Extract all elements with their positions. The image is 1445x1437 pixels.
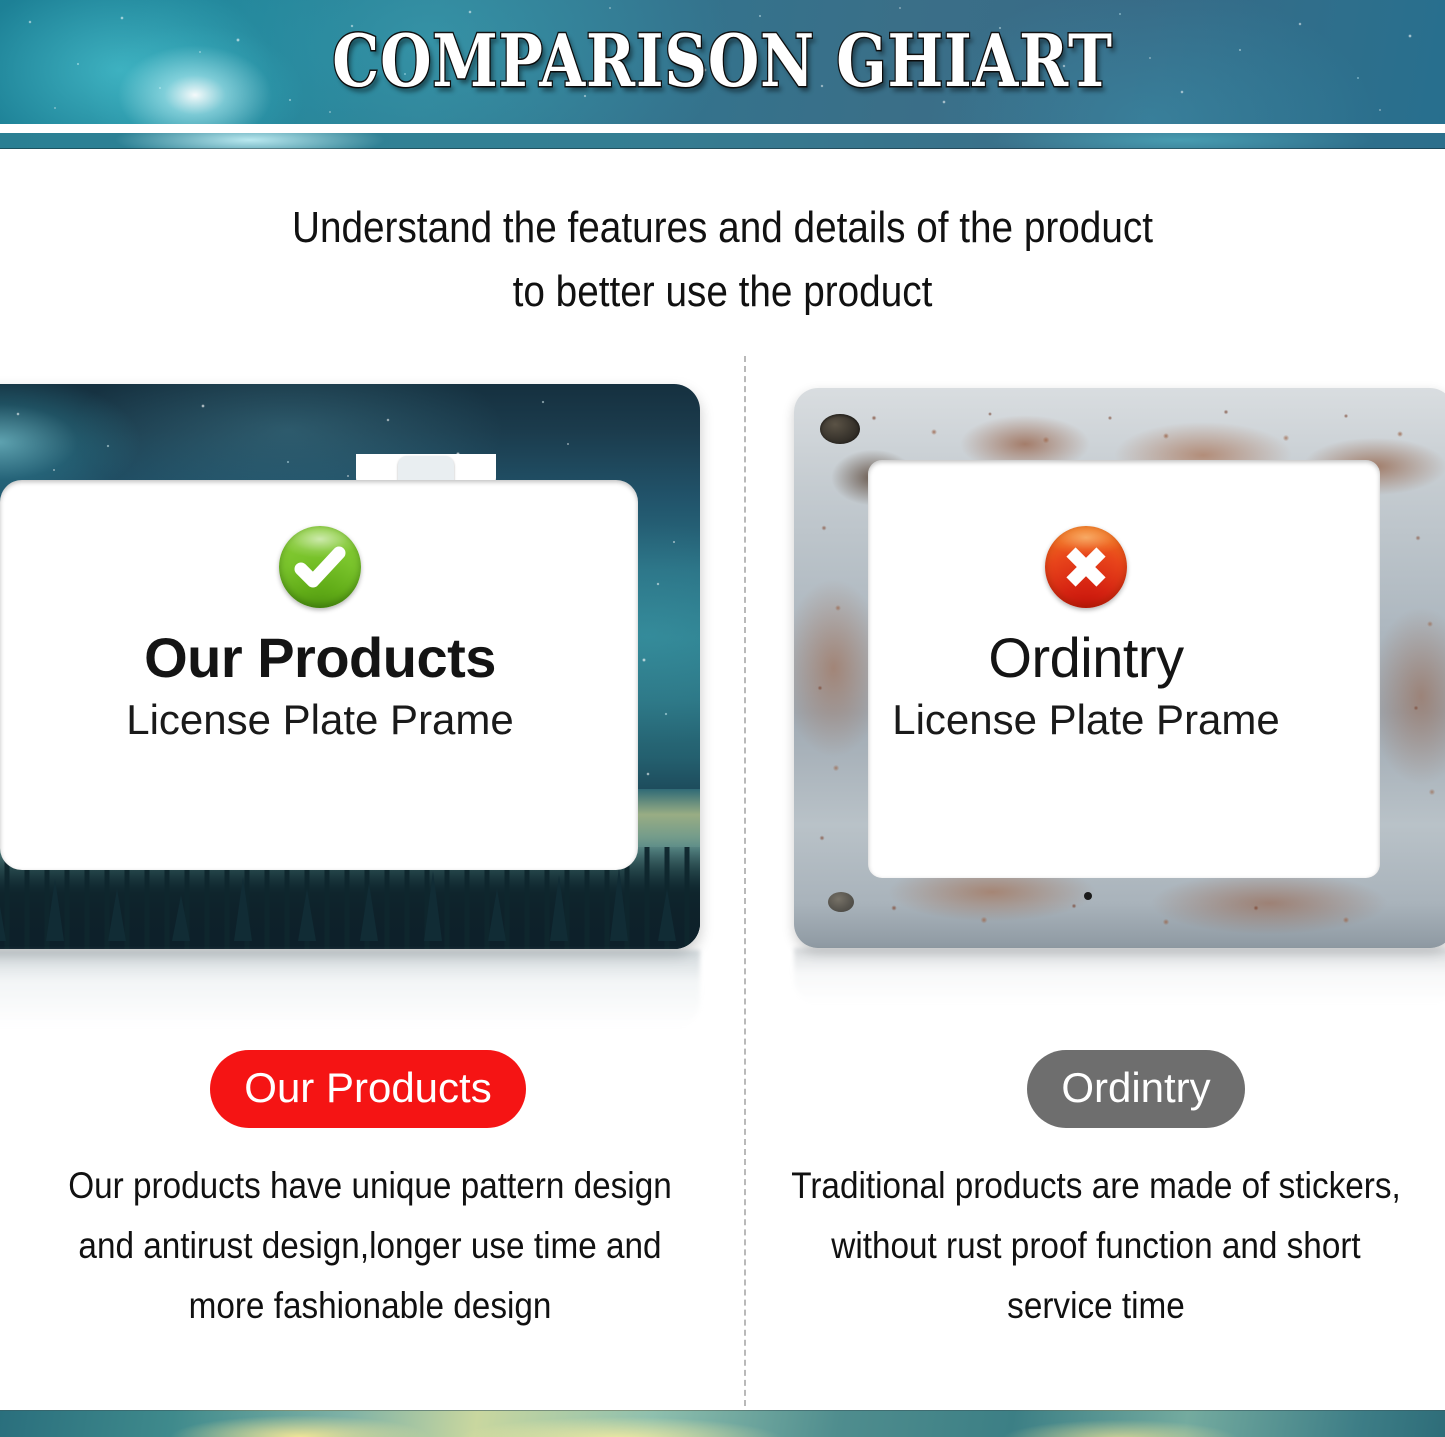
- description-line: without rust proof function and short: [790, 1216, 1402, 1276]
- description-line: Traditional products are made of sticker…: [790, 1156, 1402, 1216]
- frame-reflection: [794, 948, 1445, 1004]
- tree-decoration: [424, 871, 442, 941]
- vertical-dashed-divider: [744, 356, 746, 1416]
- description-line: and antirust design,longer use time and: [55, 1216, 685, 1276]
- ordintry-subtitle: License Plate Prame: [836, 692, 1336, 748]
- our-products-pill-row: Our Products: [0, 1050, 736, 1128]
- subtitle-line-2: to better use the product: [87, 260, 1359, 324]
- bottom-image-strip: [0, 1410, 1445, 1437]
- tree-decoration: [46, 879, 64, 941]
- tree-decoration: [234, 877, 252, 941]
- tree-decoration: [550, 875, 568, 941]
- header-accent-strip: [0, 133, 1445, 149]
- description-line: service time: [790, 1276, 1402, 1336]
- tree-decoration: [610, 867, 628, 941]
- ordintry-title: Ordintry: [836, 624, 1336, 692]
- tree-decoration: [488, 889, 506, 941]
- tree-decoration: [298, 889, 316, 941]
- frame-reflection: [0, 950, 700, 1028]
- tree-decoration: [360, 883, 378, 941]
- screw-hole-icon: [828, 892, 854, 912]
- our-products-label-group: Our Products License Plate Prame: [0, 526, 640, 748]
- description-line: more fashionable design: [55, 1276, 685, 1336]
- ordintry-description: Traditional products are made of sticker…: [790, 1156, 1402, 1336]
- subtitle-block: Understand the features and details of t…: [0, 196, 1445, 324]
- tree-decoration: [108, 889, 126, 941]
- our-products-title: Our Products: [0, 624, 640, 692]
- page-title: COMPARISON GHIART: [130, 18, 1315, 104]
- pinhole-decoration: [1084, 892, 1092, 900]
- header-banner: COMPARISON GHIART: [0, 0, 1445, 124]
- our-products-subtitle: License Plate Prame: [0, 692, 640, 748]
- ordintry-pill-row: Ordintry: [786, 1050, 1445, 1128]
- green-check-badge-icon: [279, 526, 361, 608]
- tree-decoration: [172, 895, 190, 941]
- tree-decoration: [658, 889, 676, 941]
- description-line: Our products have unique pattern design: [55, 1156, 685, 1216]
- ordintry-pill-badge: Ordintry: [1027, 1050, 1244, 1128]
- tree-decoration: [0, 889, 6, 941]
- our-products-description: Our products have unique pattern design …: [55, 1156, 685, 1336]
- our-products-pill-badge: Our Products: [210, 1050, 525, 1128]
- screw-hole-icon: [820, 414, 860, 444]
- red-x-badge-icon: [1045, 526, 1127, 608]
- subtitle-line-1: Understand the features and details of t…: [87, 196, 1359, 260]
- ordintry-label-group: Ordintry License Plate Prame: [836, 526, 1336, 748]
